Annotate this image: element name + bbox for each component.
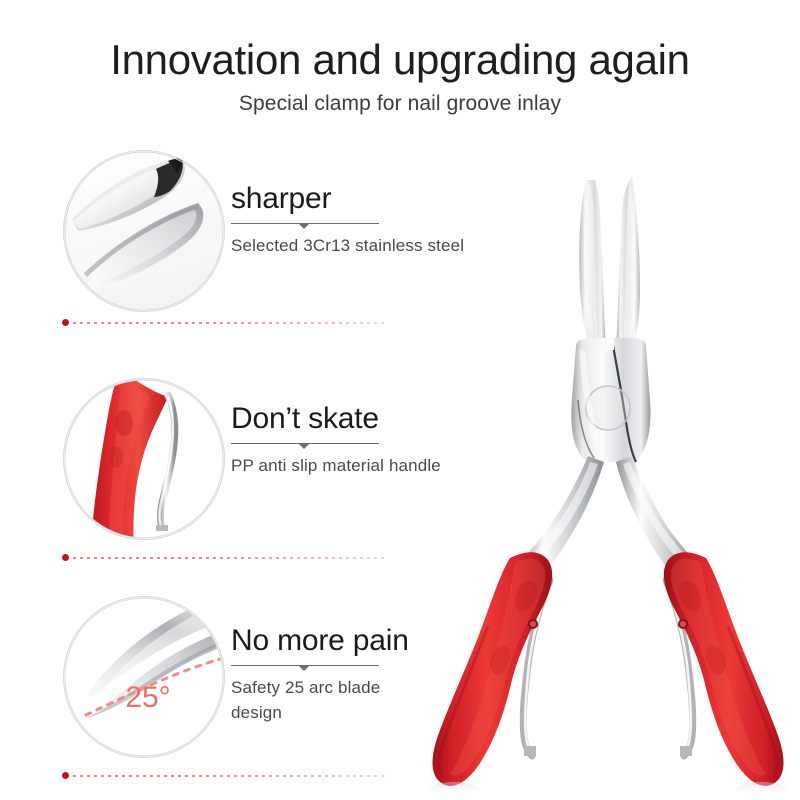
section-separator — [62, 772, 387, 779]
heading-divider — [231, 663, 379, 673]
right-reflection — [735, 782, 787, 798]
infographic-page: Innovation and upgrading again Special c… — [0, 0, 800, 800]
separator-dashes — [73, 775, 387, 777]
feature-subtext: Safety 25 arc blade design — [231, 675, 406, 725]
red-handle-closeup-icon — [63, 378, 225, 540]
separator-dot — [62, 319, 69, 326]
blade-tip-closeup-icon — [63, 150, 225, 312]
separator-dot — [62, 772, 69, 779]
heading-divider — [231, 221, 379, 231]
separator-dashes — [73, 557, 387, 559]
angle-label: 25° — [125, 681, 170, 714]
left-reflection — [429, 782, 481, 798]
product-image-nail-nipper — [400, 150, 800, 800]
curved-blade-closeup-icon: 25° — [63, 596, 225, 758]
separator-dot — [62, 554, 69, 561]
separator-dashes — [73, 322, 387, 324]
section-separator — [62, 554, 387, 561]
page-title: Innovation and upgrading again — [0, 34, 800, 86]
heading-divider — [231, 441, 379, 451]
section-separator — [62, 319, 387, 326]
divider-triangle-icon — [299, 666, 309, 671]
divider-triangle-icon — [299, 224, 309, 229]
page-subtitle: Special clamp for nail groove inlay — [0, 90, 800, 118]
header: Innovation and upgrading again Special c… — [0, 34, 800, 118]
divider-triangle-icon — [299, 444, 309, 449]
